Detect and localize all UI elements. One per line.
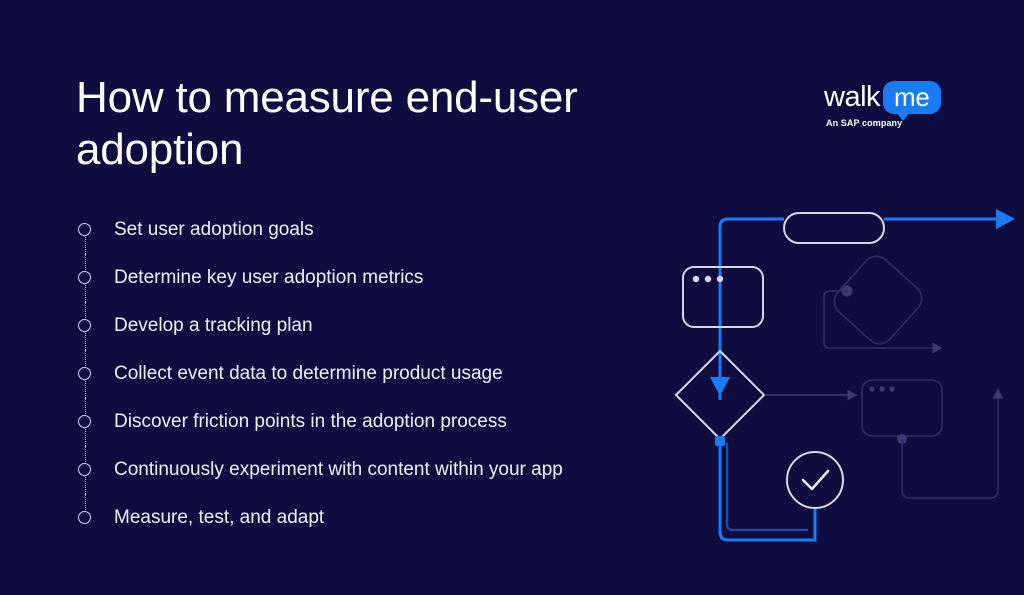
list-item-label: Develop a tracking plan (114, 314, 313, 338)
list-item-label: Discover friction points in the adoption… (114, 410, 507, 434)
list-item-label: Continuously experiment with content wit… (114, 458, 563, 482)
rotated-square-faint (829, 251, 928, 350)
logo-wordmark-row: walk me (824, 80, 966, 114)
list-marker-column (76, 254, 98, 302)
flowchart-illustration (660, 190, 1024, 570)
faint-path-lower-left (824, 291, 941, 348)
circle-bullet-icon (78, 271, 91, 284)
check-circle (787, 452, 843, 508)
logo-speech-bubble-icon: me (883, 81, 941, 114)
walkme-logo: walk me An SAP company (824, 80, 966, 136)
list-item: Develop a tracking plan (76, 302, 696, 350)
circle-bullet-icon (78, 415, 91, 428)
circle-bullet-icon (78, 367, 91, 380)
circle-bullet-icon (78, 463, 91, 476)
list-item-label: Measure, test, and adapt (114, 506, 324, 530)
list-item: Continuously experiment with content wit… (76, 446, 696, 494)
list-item-label: Collect event data to determine product … (114, 362, 503, 386)
blue-dot-diamond-bottom (715, 436, 725, 446)
page-title: How to measure end-user adoption (76, 72, 676, 176)
list-marker-column (76, 206, 98, 254)
blue-path-top-elbow (720, 219, 784, 400)
list-item-label: Determine key user adoption metrics (114, 266, 423, 290)
circle-bullet-icon (78, 319, 91, 332)
list-item: Determine key user adoption metrics (76, 254, 696, 302)
window-node-faint (862, 380, 942, 436)
list-marker-column (76, 302, 98, 350)
slide-root: How to measure end-user adoption walk me… (0, 0, 1024, 595)
list-marker-column (76, 494, 98, 542)
logo-tagline: An SAP company (826, 118, 902, 129)
list-item: Set user adoption goals (76, 206, 696, 254)
checklist: Set user adoption goals Determine key us… (76, 206, 696, 542)
circle-bullet-icon (78, 223, 91, 236)
window-node-primary (683, 267, 763, 327)
list-item: Collect event data to determine product … (76, 350, 696, 398)
list-marker-column (76, 398, 98, 446)
blue-flow-paths (720, 219, 1012, 540)
list-item-label: Set user adoption goals (114, 218, 314, 242)
list-item: Discover friction points in the adoption… (76, 398, 696, 446)
pill-node (784, 213, 884, 243)
list-item: Measure, test, and adapt (76, 494, 696, 542)
list-marker-column (76, 446, 98, 494)
faint-background-group (824, 251, 998, 498)
list-marker-column (76, 350, 98, 398)
light-nodes-group (676, 213, 884, 508)
logo-walk-text: walk (824, 83, 880, 112)
circle-bullet-icon (78, 511, 91, 524)
logo-me-text: me (894, 82, 930, 112)
blue-connector-dots (715, 436, 725, 446)
faint-path-loop-up (902, 390, 998, 498)
